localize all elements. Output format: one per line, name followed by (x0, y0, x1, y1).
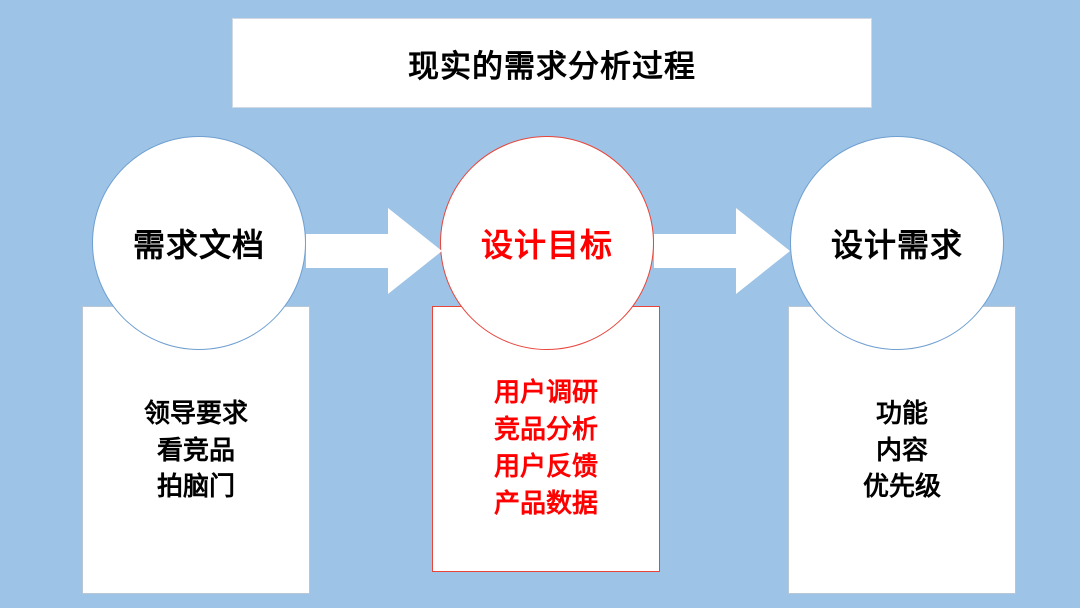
list-item: 看竞品 (144, 432, 248, 469)
right-arrow-icon (306, 208, 442, 299)
list-item: 领导要求 (144, 395, 248, 432)
stage-circle-label: 需求文档 (133, 220, 265, 266)
diagram-canvas: 现实的需求分析过程 领导要求 看竞品 拍脑门 用户调研 竞品分析 用户反馈 产品… (0, 0, 1080, 608)
list-item: 内容 (863, 432, 941, 469)
list-item: 产品数据 (494, 485, 598, 522)
right-arrow-icon (654, 208, 790, 299)
list-item: 用户调研 (494, 374, 598, 411)
list-item: 拍脑门 (144, 468, 248, 505)
stage-circle-label: 设计目标 (481, 220, 613, 266)
stage-circle-requirement-doc: 需求文档 (92, 136, 306, 350)
page-title: 现实的需求分析过程 (408, 41, 696, 86)
stage-items-design-goal: 用户调研 竞品分析 用户反馈 产品数据 (494, 374, 598, 522)
stage-items-design-requirement: 功能 内容 优先级 (863, 395, 941, 506)
stage-circle-design-goal: 设计目标 (440, 136, 654, 350)
list-item: 功能 (863, 395, 941, 432)
title-banner: 现实的需求分析过程 (232, 18, 872, 108)
list-item: 优先级 (863, 468, 941, 505)
stage-circle-label: 设计需求 (831, 220, 963, 266)
list-item: 用户反馈 (494, 448, 598, 485)
list-item: 竞品分析 (494, 411, 598, 448)
stage-circle-design-requirement: 设计需求 (790, 136, 1004, 350)
stage-items-requirement-doc: 领导要求 看竞品 拍脑门 (144, 395, 248, 506)
